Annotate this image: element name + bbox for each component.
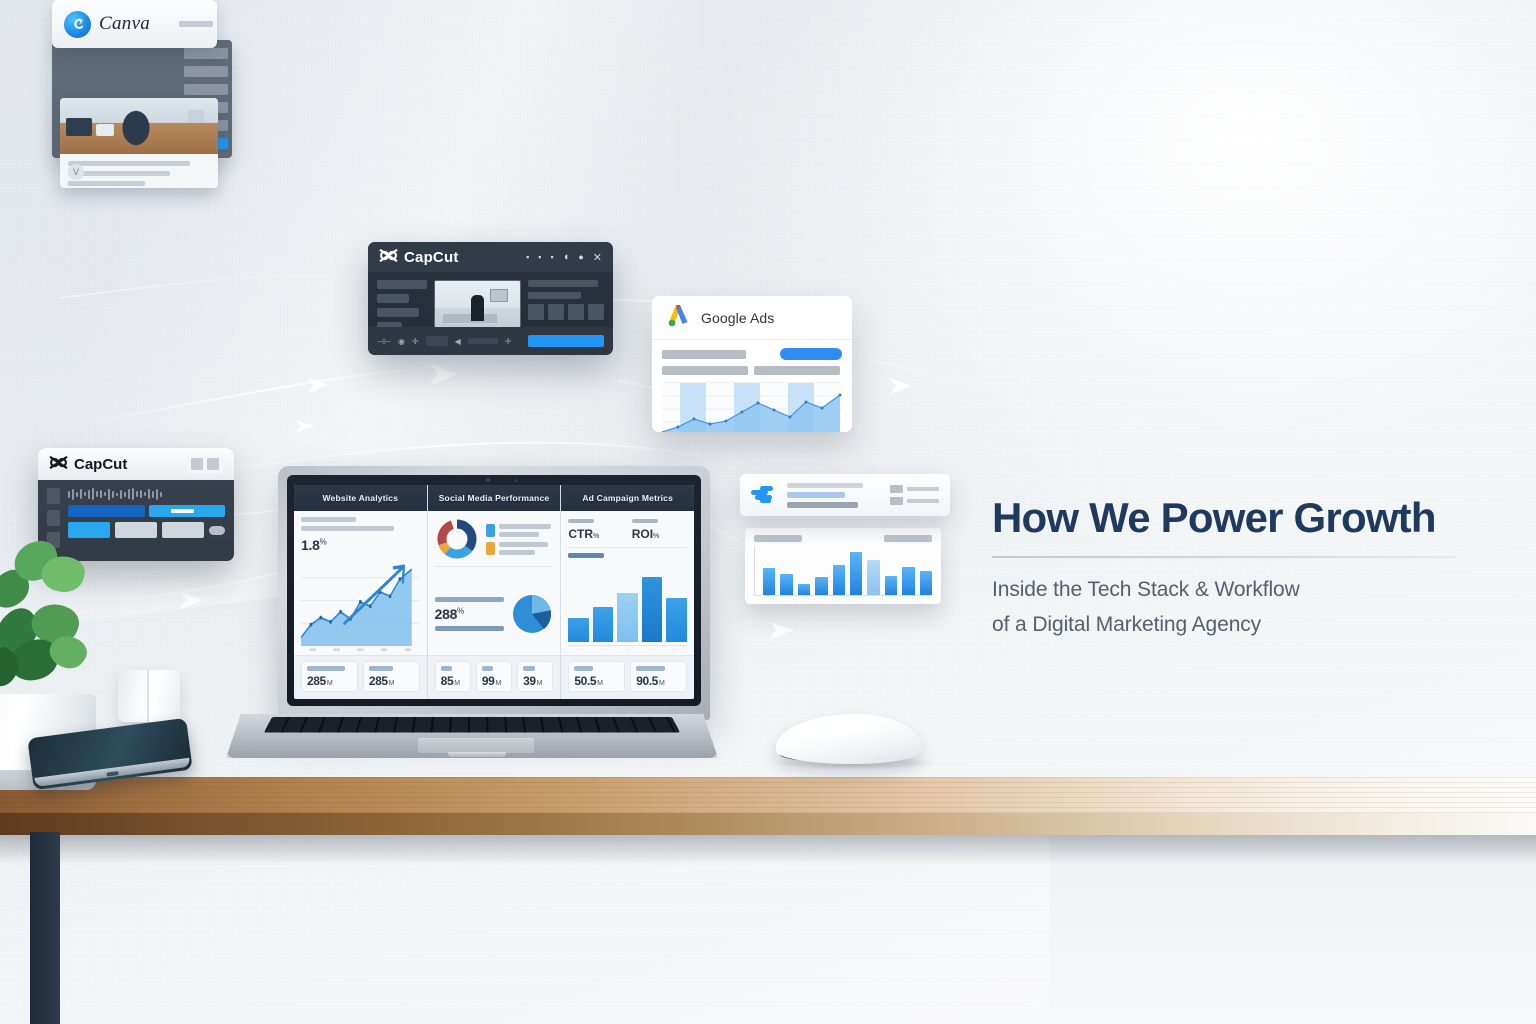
bar <box>902 567 914 595</box>
panel3-kpi-row: 50.5M 90.5M <box>561 655 694 699</box>
panel-title: Ad Campaign Metrics <box>561 485 694 511</box>
google-ads-app-name: Google Ads <box>701 310 774 326</box>
toggle-switch[interactable] <box>209 526 225 535</box>
capcut-effect-tile[interactable] <box>548 304 564 320</box>
window-analytics-chart[interactable]: ··············· <box>745 528 941 604</box>
analytics-x-ticks: ··············· <box>754 596 932 601</box>
maximize-icon[interactable]: ▪ <box>550 252 553 262</box>
hero-scene: V Canva CapCut <box>0 0 1536 1024</box>
secondary-action-button[interactable] <box>115 522 157 538</box>
capcut-export-button[interactable] <box>528 335 604 347</box>
speed-icon[interactable]: ◉ <box>398 337 405 346</box>
window-google-ads[interactable]: Google Ads <box>652 296 852 432</box>
tertiary-action-button[interactable] <box>162 522 204 538</box>
kpi-card: 99M <box>476 661 512 692</box>
capcut-video-preview[interactable] <box>434 280 521 328</box>
panel2-primary-metric: 288% <box>435 606 505 622</box>
canva-titlebar[interactable]: Canva <box>52 0 217 48</box>
panel-body: CTR% ROI% <box>561 511 694 655</box>
laptop[interactable]: Website Analytics 1.8% <box>226 466 718 786</box>
panel-title: Website Analytics <box>294 485 427 511</box>
canva-editor-body: V <box>52 40 232 158</box>
legend-swatch <box>486 524 495 537</box>
minimize-icon[interactable]: ▪ <box>526 252 529 262</box>
tool-icon[interactable] <box>47 488 60 504</box>
analytics-logo-icon <box>751 486 777 504</box>
page-title: How We Power Growth <box>992 496 1482 540</box>
canva-avatar-badge: V <box>68 164 84 180</box>
bar <box>920 571 932 595</box>
google-ads-panel: 3.00 3.00 3.00 3.00 3.00 3.00 <box>652 340 852 432</box>
capcut-effect-tile[interactable] <box>568 304 584 320</box>
website-analytics-area-chart <box>301 555 420 646</box>
timeline-tracks[interactable] <box>68 505 225 517</box>
maximize-icon[interactable] <box>207 458 219 470</box>
analytics-bar-chart <box>754 546 932 596</box>
timeline-track <box>468 338 498 344</box>
canva-design-card[interactable]: V <box>60 98 218 188</box>
capcut-effect-tiles[interactable] <box>528 304 604 320</box>
bar <box>642 577 663 642</box>
bar <box>798 584 810 595</box>
canva-app-name: Canva <box>99 13 150 35</box>
window-analytics-header[interactable] <box>740 474 950 516</box>
social-donut-chart <box>435 517 479 561</box>
minimize-icon[interactable] <box>191 458 203 470</box>
metric-roi: ROI% <box>632 519 687 541</box>
bar <box>617 593 638 642</box>
bar <box>867 560 879 595</box>
preview-wall-frame <box>490 289 508 302</box>
desk-under-shadow <box>0 835 1536 865</box>
eye-icon[interactable]: ◖ <box>563 251 570 263</box>
canva-titlebar-placeholder <box>179 21 213 27</box>
webcam-indicator-icon <box>515 479 518 482</box>
mouse-highlight <box>808 721 893 736</box>
analytics-header-stats <box>890 485 939 505</box>
webcam-icon <box>486 478 490 482</box>
bar <box>850 552 862 595</box>
google-ads-filter-row[interactable] <box>662 366 842 375</box>
window-canva[interactable]: V Canva <box>0 0 232 158</box>
capcut-app-name: CapCut <box>404 249 459 266</box>
canva-sidebar-item[interactable] <box>184 48 228 59</box>
google-ads-logo-icon <box>666 303 692 332</box>
crop-icon[interactable]: ✛ <box>505 337 512 346</box>
canva-logo-icon <box>64 11 91 38</box>
panel-body: 288% <box>428 511 561 655</box>
dashboard-panel-website-analytics[interactable]: Website Analytics 1.8% <box>294 485 428 699</box>
laptop-screen[interactable]: Website Analytics 1.8% <box>294 485 694 699</box>
capcut-effect-tile[interactable] <box>588 304 604 320</box>
kpi-card: 85M <box>435 661 471 692</box>
capcut-titlebar[interactable]: CapCut ▪ ▪ ▪ ◖ ● ✕ <box>368 242 613 272</box>
google-ads-area-chart: 3.00 3.00 3.00 3.00 3.00 3.00 <box>662 382 842 432</box>
audio-waveform <box>68 488 225 500</box>
analytics-chart-captions <box>754 535 932 542</box>
filter-chip[interactable] <box>662 366 748 375</box>
desk-edge <box>0 813 1536 835</box>
kpi-card: 50.5M <box>568 661 625 692</box>
filter-chip[interactable] <box>754 366 840 375</box>
laptop-bezel: Website Analytics 1.8% <box>287 475 701 706</box>
kpi-card: 90.5M <box>630 661 687 692</box>
capcut-effect-tile[interactable] <box>528 304 544 320</box>
timeline-track-selected[interactable] <box>149 505 226 517</box>
laptop-front-notch <box>448 752 506 757</box>
kpi-card: 39M <box>517 661 553 692</box>
laptop-trackpad[interactable] <box>418 738 534 753</box>
metric-ctr: CTR% <box>568 519 623 541</box>
capcut-logo-icon <box>49 455 68 474</box>
bar <box>763 568 775 595</box>
timeline-track-video[interactable] <box>68 505 145 517</box>
magic-mouse[interactable] <box>776 714 922 764</box>
kpi-card: 285M <box>363 661 420 692</box>
headline-divider <box>992 556 1456 558</box>
panel1-x-ticks: 300 300 300 300 300 <box>301 646 420 655</box>
bar <box>780 574 792 595</box>
laptop-keyboard[interactable] <box>264 717 680 733</box>
window-icon[interactable]: ▪ <box>538 252 541 262</box>
bar <box>815 577 827 595</box>
canva-photo-thumbnail <box>60 98 218 154</box>
caption-placeholder <box>884 535 932 542</box>
canva-sidebar-item[interactable] <box>184 66 228 77</box>
timeline-clip[interactable] <box>426 336 448 346</box>
panel2-kpi-row: 85M 99M 39M <box>428 655 561 699</box>
split-icon[interactable]: ⊣⊢ <box>377 337 391 346</box>
google-ads-cta-button[interactable] <box>780 348 842 360</box>
capcut-workspace <box>368 272 613 331</box>
panel-body: 1.8% <box>294 511 427 655</box>
bar <box>666 598 687 642</box>
panel-title: Social Media Performance <box>428 485 561 511</box>
bar <box>885 576 897 595</box>
capcut-secondary-window-controls[interactable] <box>187 455 223 473</box>
legend-swatch <box>486 542 495 555</box>
canva-sidebar-item[interactable] <box>184 84 228 95</box>
volume-icon[interactable]: ◀ <box>455 337 461 346</box>
window-capcut-top[interactable]: CapCut ▪ ▪ ▪ ◖ ● ✕ <box>368 242 613 355</box>
dashboard-panel-social-media[interactable]: Social Media Performance <box>428 485 562 699</box>
capcut-secondary-app-name: CapCut <box>74 456 127 473</box>
capcut-timeline-toolbar[interactable]: ⊣⊢ ◉ ✛ ◀ ✛ <box>368 327 613 355</box>
panel-title-placeholder <box>662 350 746 359</box>
panel-primary-metric: 1.8% <box>301 537 420 553</box>
white-cube-object <box>118 670 180 722</box>
bar <box>568 618 589 642</box>
subtitle-line-2: of a Digital Marketing Agency <box>992 607 1482 642</box>
preview-person <box>471 295 484 321</box>
close-icon[interactable]: ✕ <box>593 251 602 264</box>
dashboard-panel-ad-campaign[interactable]: Ad Campaign Metrics CTR% ROI% <box>561 485 694 699</box>
caption-placeholder <box>754 535 802 542</box>
kpi-card: 285M <box>301 661 358 692</box>
subtitle-line-1: Inside the Tech Stack & Workflow <box>992 572 1482 607</box>
bar <box>833 565 845 595</box>
capcut-window-controls[interactable]: ▪ ▪ ▪ ◖ ● ✕ <box>526 251 602 264</box>
social-pie-chart <box>511 593 553 635</box>
google-ads-header: Google Ads <box>652 296 852 340</box>
desk-leg <box>30 832 60 1024</box>
ad-campaign-bar-chart <box>568 563 687 646</box>
laptop-lid: Website Analytics 1.8% <box>278 466 710 720</box>
capcut-media-list[interactable] <box>377 280 427 331</box>
settings-icon[interactable]: ● <box>578 252 583 262</box>
capcut-secondary-titlebar[interactable]: CapCut <box>38 448 234 480</box>
capcut-inspector[interactable] <box>528 280 604 331</box>
analytics-header-lines <box>787 483 880 508</box>
add-icon[interactable]: ✛ <box>412 337 419 346</box>
capcut-logo-icon <box>379 248 398 267</box>
panel1-kpi-row: 285M 285M <box>294 655 427 699</box>
bar <box>593 607 614 642</box>
google-ads-toolbar[interactable] <box>662 348 842 360</box>
headline-block: How We Power Growth Inside the Tech Stac… <box>992 496 1482 643</box>
